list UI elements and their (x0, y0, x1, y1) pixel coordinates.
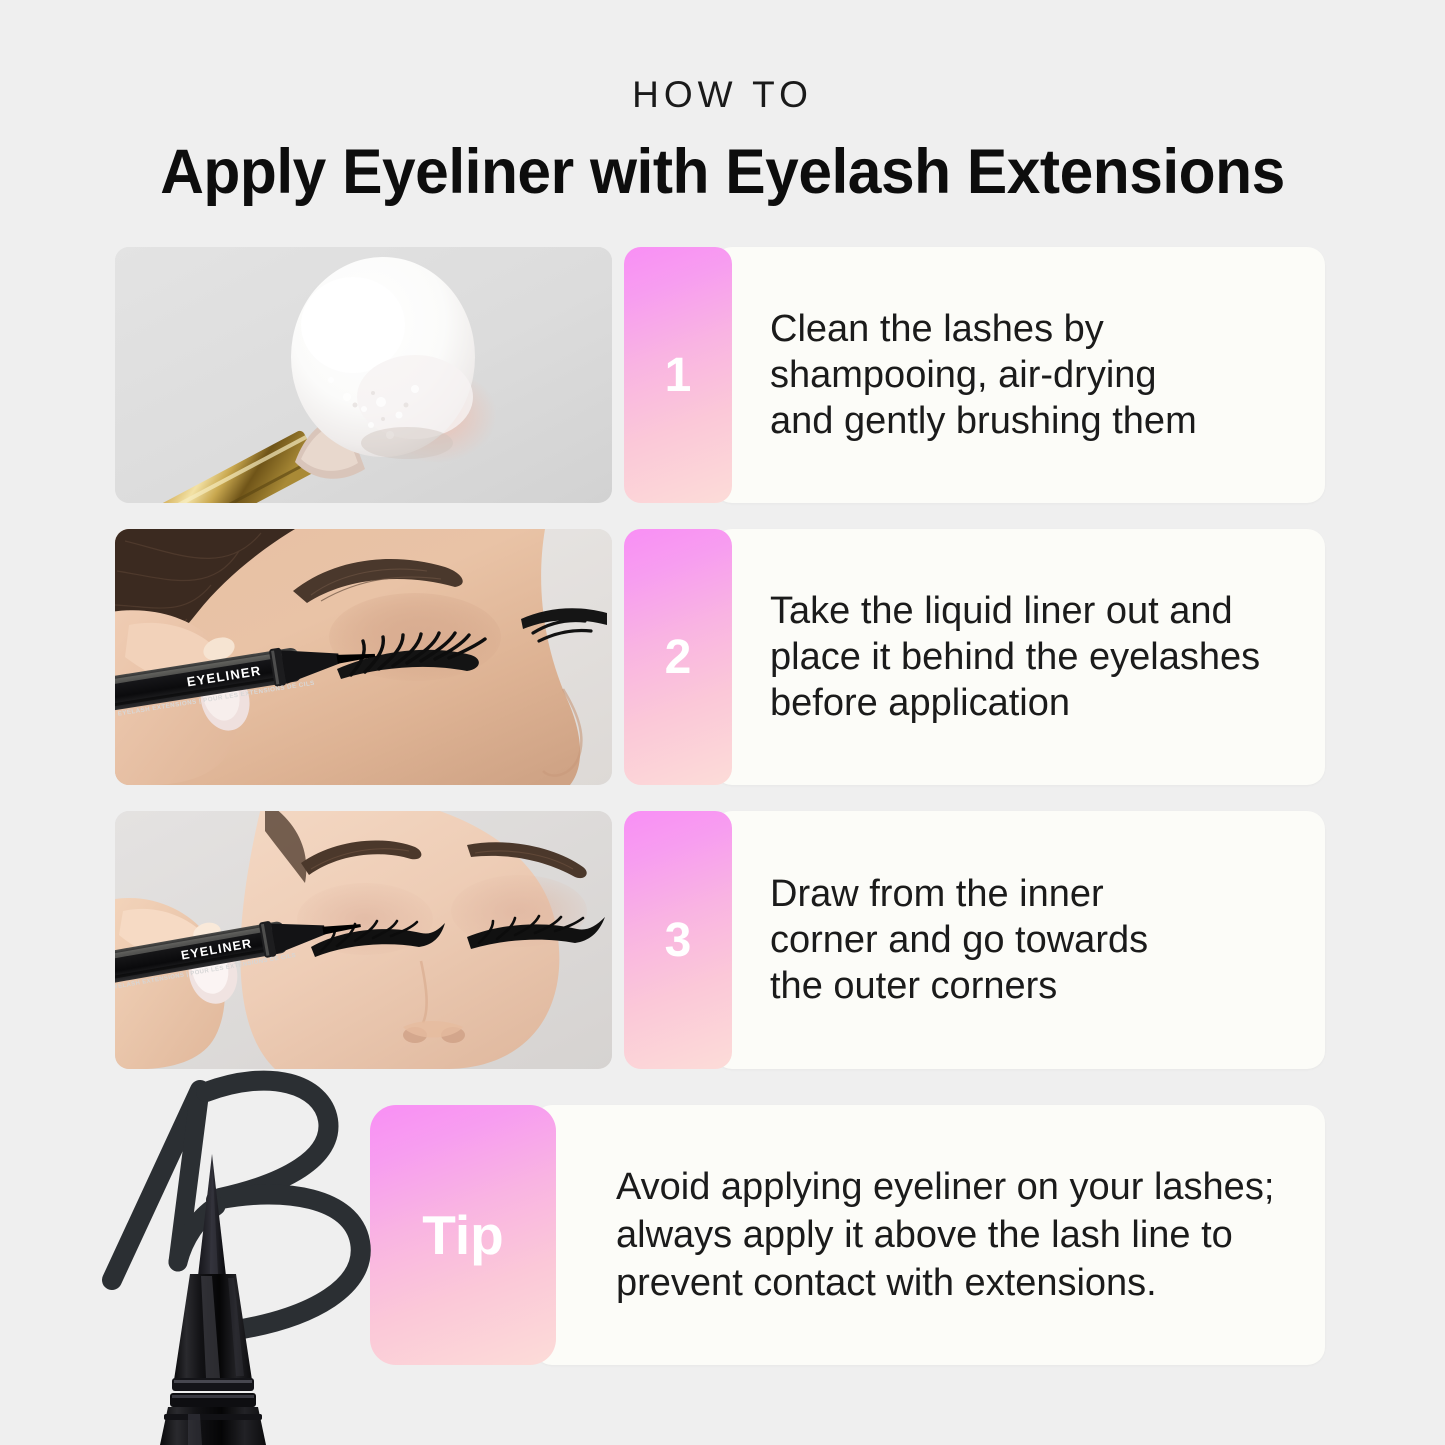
step-row-1: 1 Clean the lashes by shampooing, air-dr… (115, 247, 1325, 503)
step-row-3: EYELINER FOR EYELASH EXTENSIONS | POUR L… (115, 811, 1325, 1069)
step-badge-2: 2 (624, 529, 732, 785)
step-badge-1: 1 (624, 247, 732, 503)
header-kicker: HOW TO (0, 74, 1445, 116)
tip-text: Avoid applying eyeliner on your lashes; … (616, 1163, 1274, 1307)
step-text-3: Draw from the inner corner and go toward… (770, 871, 1148, 1009)
step-image-3: EYELINER FOR EYELASH EXTENSIONS | POUR L… (115, 811, 612, 1069)
step-card-2: Take the liquid liner out and place it b… (714, 529, 1325, 785)
step-badge-3: 3 (624, 811, 732, 1069)
tip-card: Avoid applying eyeliner on your lashes; … (534, 1105, 1325, 1365)
page-header: HOW TO Apply Eyeliner with Eyelash Exten… (0, 0, 1445, 208)
step-card-1: Clean the lashes by shampooing, air-dryi… (714, 247, 1325, 503)
step-image-1 (115, 247, 612, 503)
step-row-2: EYELINER FOR EYELASH EXTENSIONS | POUR L… (115, 529, 1325, 785)
tip-row: Tip Avoid applying eyeliner on your lash… (370, 1105, 1325, 1365)
step-text-1: Clean the lashes by shampooing, air-dryi… (770, 306, 1197, 444)
step-card-3: Draw from the inner corner and go toward… (714, 811, 1325, 1069)
step-image-2: EYELINER FOR EYELASH EXTENSIONS | POUR L… (115, 529, 612, 785)
step-text-2: Take the liquid liner out and place it b… (770, 588, 1260, 726)
eyeliner-pen-illustration (60, 1062, 410, 1445)
page-title: Apply Eyeliner with Eyelash Extensions (29, 136, 1416, 208)
